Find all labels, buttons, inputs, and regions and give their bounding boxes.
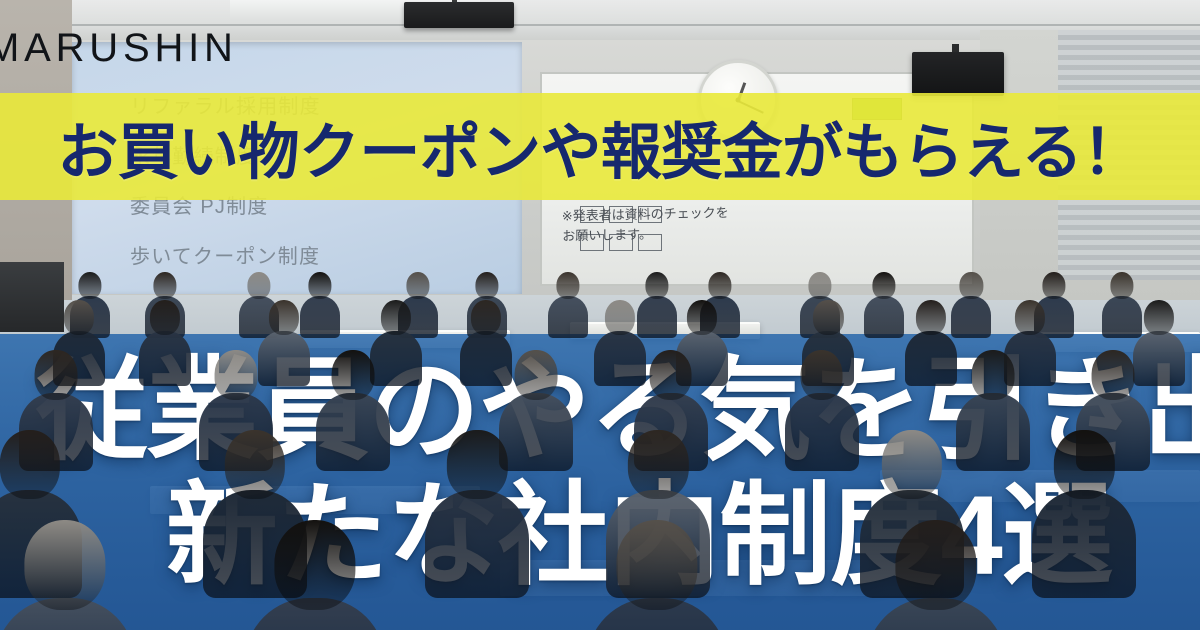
person-shoulders	[956, 393, 1030, 471]
slide-line-4: 歩いてクーポン制度	[130, 240, 320, 269]
person-head	[153, 272, 176, 299]
person-head	[406, 272, 429, 299]
person-head	[247, 272, 270, 299]
person-head	[308, 272, 331, 299]
person-head	[0, 430, 60, 499]
audience-member	[425, 430, 529, 593]
person-head	[515, 350, 558, 400]
brand-logo: MARUSHIN	[0, 26, 238, 71]
person-shoulders	[864, 296, 904, 339]
person-head	[35, 350, 78, 400]
person-head	[64, 300, 94, 335]
person-shoulders	[951, 296, 991, 339]
person-shoulders	[785, 393, 859, 471]
person-head	[475, 272, 498, 299]
person-head	[1110, 272, 1133, 299]
person-head	[447, 430, 507, 499]
person-head	[800, 350, 843, 400]
audience-member	[951, 272, 991, 337]
person-head	[605, 300, 635, 335]
person-head	[882, 430, 942, 499]
person-head	[813, 300, 843, 335]
person-head	[275, 520, 356, 610]
audience-member	[866, 520, 1006, 630]
banner-text: お買い物クーポンや報奨金がもらえる！	[0, 93, 1200, 200]
person-shoulders	[425, 490, 529, 598]
person-shoulders	[905, 331, 957, 386]
audience-member	[785, 350, 859, 468]
person-head	[332, 350, 375, 400]
person-head	[896, 520, 977, 610]
person-head	[628, 430, 688, 499]
thumbnail-graphic: リファラル採用制度 永年勤続制度 委員会 PJ制度 歩いてクーポン制度 ※発表者…	[0, 0, 1200, 630]
person-head	[808, 272, 831, 299]
audience-member	[905, 300, 957, 384]
person-head	[1092, 350, 1135, 400]
person-head	[971, 350, 1014, 400]
audience-member	[245, 520, 385, 630]
person-head	[709, 272, 732, 299]
audience-member	[548, 272, 588, 337]
person-head	[150, 300, 180, 335]
person-head	[1042, 272, 1065, 299]
person-shoulders	[548, 296, 588, 339]
person-head	[1054, 430, 1114, 499]
audience-member	[139, 300, 191, 384]
person-shoulders	[1032, 490, 1136, 598]
audience-member	[864, 272, 904, 337]
audience-member	[587, 520, 727, 630]
ceiling-projector-icon	[404, 2, 514, 28]
person-head	[78, 272, 101, 299]
audience-member	[0, 520, 135, 630]
person-head	[960, 272, 983, 299]
person-head	[649, 350, 692, 400]
person-head	[916, 300, 946, 335]
person-head	[214, 350, 257, 400]
person-head	[687, 300, 717, 335]
person-head	[1144, 300, 1174, 335]
ceiling-speaker-icon	[912, 52, 1004, 96]
audience-member	[316, 350, 390, 468]
person-head	[25, 520, 106, 610]
person-head	[1015, 300, 1045, 335]
person-head	[616, 520, 697, 610]
person-head	[645, 272, 668, 299]
person-head	[556, 272, 579, 299]
person-head	[471, 300, 501, 335]
whiteboard-note: ※発表者は資料のチェックを お願いします。	[562, 201, 893, 247]
audience-member	[1032, 430, 1136, 593]
person-shoulders	[316, 393, 390, 471]
audience-member	[956, 350, 1030, 468]
person-head	[872, 272, 895, 299]
person-head	[269, 300, 299, 335]
person-head	[224, 430, 284, 499]
person-head	[381, 300, 411, 335]
person-shoulders	[139, 331, 191, 386]
